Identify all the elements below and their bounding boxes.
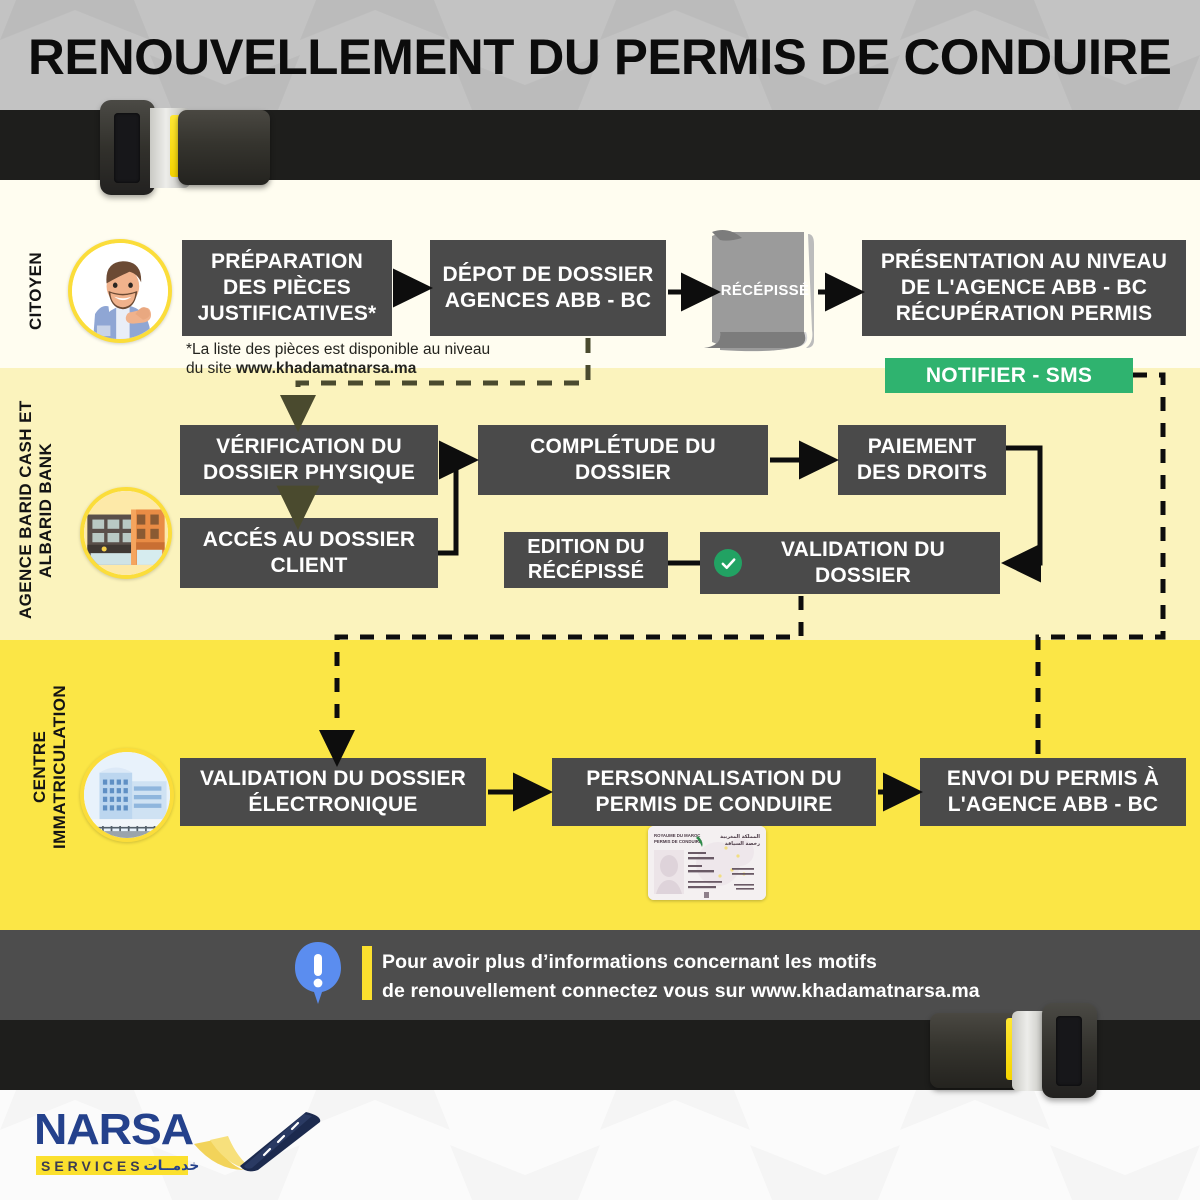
- step-preparation[interactable]: PRÉPARATION DES PIÈCES JUSTIFICATIVES*: [182, 240, 392, 336]
- lane-label-centre: CENTRE IMMATRICULATION: [30, 672, 76, 862]
- buckle-body-top: [178, 110, 270, 185]
- logo-wordmark: NARSA: [34, 1108, 193, 1152]
- road-swoosh-icon: [188, 1110, 324, 1174]
- step-edition[interactable]: EDITION DU RÉCÉPISSÉ: [504, 532, 668, 588]
- step-envoi[interactable]: ENVOI DU PERMIS À L'AGENCE ABB - BC: [920, 758, 1186, 826]
- svg-text:رخصة السياقة: رخصة السياقة: [725, 841, 760, 847]
- step-validation[interactable]: VALIDATION DU DOSSIER: [700, 532, 1000, 594]
- government-building-icon: [80, 748, 174, 842]
- step-validation-electronique[interactable]: VALIDATION DU DOSSIER ÉLECTRONIQUE: [180, 758, 486, 826]
- info-exclamation-bubble-icon: [292, 940, 344, 1006]
- footnote: *La liste des pièces est disponible au n…: [186, 340, 546, 378]
- footer-message-line2: de renouvellement connectez vous sur www…: [382, 980, 980, 1002]
- step-personnalisation[interactable]: PERSONNALISATION DU PERMIS DE CONDUIRE: [552, 758, 876, 826]
- infographic-root: RENOUVELLEMENT DU PERMIS DE CONDUIRE: [0, 0, 1200, 1200]
- step-validation-label: VALIDATION DU DOSSIER: [734, 537, 992, 589]
- step-verification[interactable]: VÉRIFICATION DU DOSSIER PHYSIQUE: [180, 425, 438, 495]
- narsa-logo[interactable]: NARSA SERVICES خدمــات: [30, 1108, 320, 1174]
- svg-text:PERMIS DE CONDUIRE: PERMIS DE CONDUIRE: [654, 839, 702, 844]
- header-band: RENOUVELLEMENT DU PERMIS DE CONDUIRE: [0, 0, 1200, 110]
- step-completude[interactable]: COMPLÉTUDE DU DOSSIER: [478, 425, 768, 495]
- svg-text:ROYAUME DU MAROC: ROYAUME DU MAROC: [654, 833, 700, 838]
- buckle-slot-top: [114, 113, 140, 183]
- driving-licence-card-icon: ROYAUME DU MAROC PERMIS DE CONDUIRE المم…: [648, 826, 766, 900]
- footnote-line1: *La liste des pièces est disponible au n…: [186, 341, 490, 358]
- step-acces[interactable]: ACCÉS AU DOSSIER CLIENT: [180, 518, 438, 588]
- notify-sms-badge: NOTIFIER - SMS: [885, 358, 1133, 393]
- step-depot[interactable]: DÉPOT DE DOSSIER AGENCES ABB - BC: [430, 240, 666, 336]
- svg-text:المملكة المغربية: المملكة المغربية: [720, 834, 760, 840]
- lane-label-agency: AGENCE BARID CASH ET ALBARID BANK: [16, 400, 60, 620]
- lane-agency: [0, 368, 1200, 640]
- step-presentation[interactable]: PRÉSENTATION AU NIVEAU DE L'AGENCE ABB -…: [862, 240, 1186, 336]
- buckle-slot-bottom: [1056, 1016, 1082, 1086]
- footer-message-line1: Pour avoir plus d’informations concernan…: [382, 951, 877, 973]
- bank-building-icon: [80, 487, 172, 579]
- receipt-scroll-icon: RÉCÉPISSÉ: [690, 228, 840, 354]
- footnote-line2-prefix: du site: [186, 360, 236, 377]
- citizen-avatar-icon: [68, 239, 172, 343]
- lane-label-citizen: CITOYEN: [26, 236, 46, 346]
- step-paiement[interactable]: PAIEMENT DES DROITS: [838, 425, 1006, 495]
- footer-accent-bar: [362, 946, 372, 1000]
- footnote-site: www.khadamatnarsa.ma: [236, 360, 416, 377]
- receipt-label: RÉCÉPISSÉ: [690, 282, 840, 299]
- page-title: RENOUVELLEMENT DU PERMIS DE CONDUIRE: [28, 32, 1200, 82]
- green-check-icon: [714, 549, 742, 577]
- logo-services-en: SERVICES: [41, 1158, 144, 1174]
- logo-services-bar: SERVICES خدمــات: [36, 1156, 188, 1175]
- footer-message: Pour avoir plus d’informations concernan…: [382, 948, 1142, 1006]
